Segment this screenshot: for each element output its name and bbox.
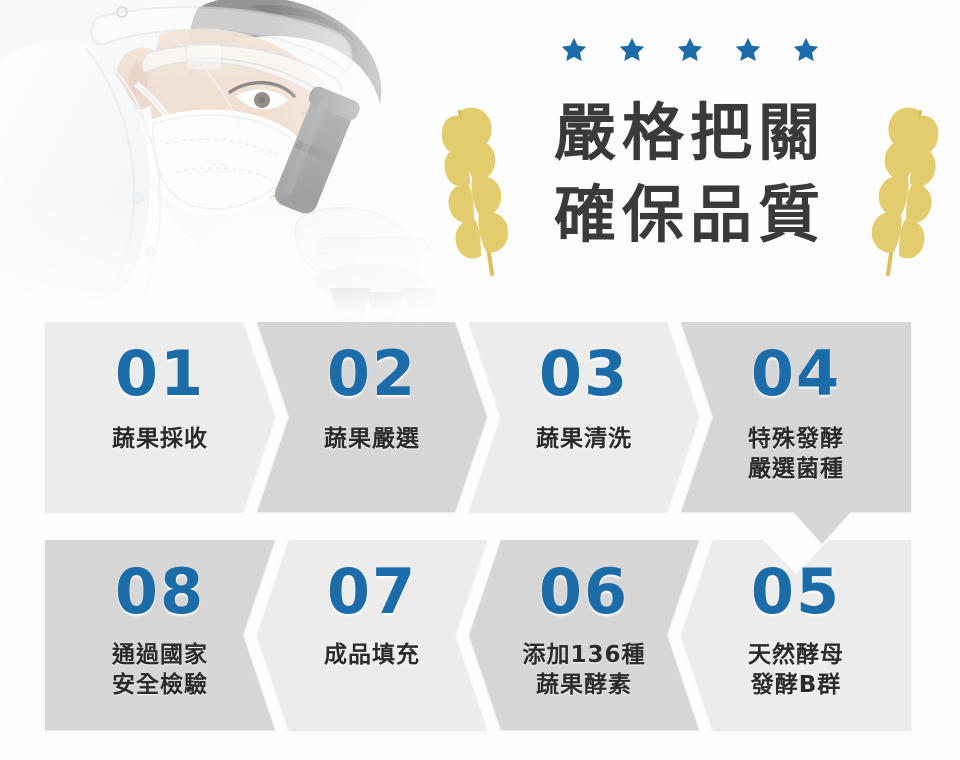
step-number: 06	[539, 556, 629, 628]
process-step-07[interactable]: 07 成品填充	[257, 540, 487, 730]
step-number: 03	[539, 338, 629, 410]
step-label-line-1: 天然酵母	[748, 642, 844, 668]
process-step-04[interactable]: 04 特殊發酵 嚴選菌種	[681, 322, 911, 512]
process-row-1: 01 蔬果採收 02 蔬果嚴選	[45, 322, 911, 512]
step-label-line-1: 蔬果採收	[112, 426, 208, 452]
step-number: 04	[751, 338, 841, 410]
step-label: 特殊發酵 嚴選菌種	[748, 424, 844, 484]
step-number: 07	[327, 556, 417, 628]
chevron-down-connector-icon	[786, 500, 858, 546]
step-label-line-2: 蔬果酵素	[522, 670, 645, 700]
step-number: 01	[115, 338, 205, 410]
process-step-01[interactable]: 01 蔬果採收	[45, 322, 275, 512]
step-label: 添加136種 蔬果酵素	[522, 640, 645, 700]
step-label: 天然酵母 發酵B群	[748, 640, 844, 700]
process-step-05[interactable]: 05 天然酵母 發酵B群	[681, 540, 911, 730]
page-stage: 嚴格把關 確保品質 01 蔬果採收	[0, 0, 960, 760]
step-label: 成品填充	[324, 640, 420, 670]
step-label: 通過國家 安全檢驗	[112, 640, 208, 700]
step-label-line-2: 嚴選菌種	[748, 454, 844, 484]
step-label-line-1: 蔬果清洗	[536, 426, 632, 452]
process-step-08[interactable]: 08 通過國家 安全檢驗	[45, 540, 275, 730]
step-label: 蔬果採收	[112, 424, 208, 454]
process-flow: 01 蔬果採收 02 蔬果嚴選	[0, 0, 960, 760]
step-label-line-2: 安全檢驗	[112, 670, 208, 700]
step-number: 08	[115, 556, 205, 628]
process-row-2: 08 通過國家 安全檢驗 07 成品填充	[45, 540, 911, 730]
step-label-line-2: 發酵B群	[748, 670, 844, 700]
step-label-line-1: 蔬果嚴選	[324, 426, 420, 452]
process-step-03[interactable]: 03 蔬果清洗	[469, 322, 699, 512]
step-number: 05	[751, 556, 841, 628]
step-label: 蔬果嚴選	[324, 424, 420, 454]
step-label-line-1: 通過國家	[112, 642, 208, 668]
step-label: 蔬果清洗	[536, 424, 632, 454]
process-step-02[interactable]: 02 蔬果嚴選	[257, 322, 487, 512]
process-step-06[interactable]: 06 添加136種 蔬果酵素	[469, 540, 699, 730]
step-label-line-1: 成品填充	[324, 642, 420, 668]
step-number: 02	[327, 338, 417, 410]
step-label-line-1: 添加136種	[522, 642, 645, 668]
step-label-line-1: 特殊發酵	[748, 426, 844, 452]
